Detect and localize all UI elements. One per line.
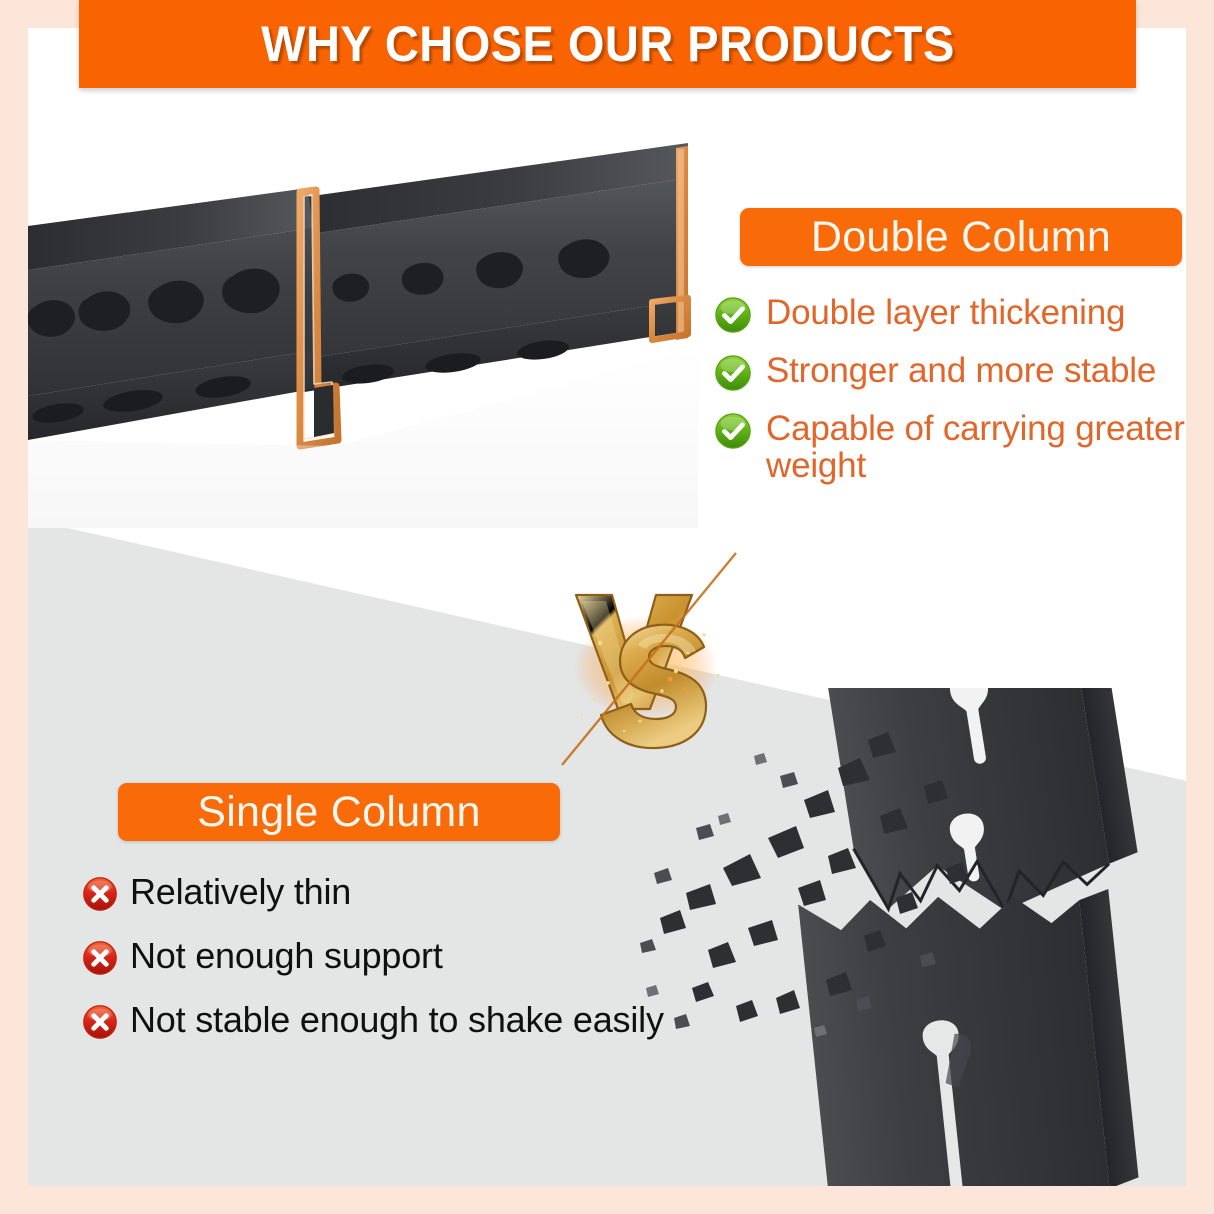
cross-circle-icon — [82, 940, 118, 976]
page-title: WHY CHOSE OUR PRODUCTS — [261, 19, 955, 69]
double-column-photo — [28, 88, 698, 528]
badge-single-column: Single Column — [118, 783, 560, 841]
cons-item-text: Not enough support — [130, 937, 443, 975]
vs-emblem-icon — [528, 543, 758, 773]
badge-double-column: Double Column — [740, 208, 1182, 266]
cross-circle-icon — [82, 1004, 118, 1040]
badge-single-column-label: Single Column — [197, 791, 481, 834]
cons-item-text: Not stable enough to shake easily — [130, 1001, 664, 1039]
list-item: Not enough support — [82, 937, 762, 976]
list-item: Double layer thickening — [714, 294, 1186, 334]
pros-item-text: Double layer thickening — [766, 294, 1125, 331]
check-circle-icon — [714, 354, 752, 392]
list-item: Relatively thin — [82, 873, 762, 912]
cons-item-text: Relatively thin — [130, 873, 351, 911]
check-circle-icon — [714, 412, 752, 450]
badge-double-column-label: Double Column — [811, 216, 1111, 259]
cross-circle-icon — [82, 876, 118, 912]
content-panel: Double Column — [28, 28, 1186, 1186]
cons-list: Relatively thin — [82, 873, 762, 1065]
list-item: Capable of carrying greater weight — [714, 410, 1186, 484]
list-item: Not stable enough to shake easily — [82, 1001, 762, 1040]
check-circle-icon — [714, 296, 752, 334]
header-banner: WHY CHOSE OUR PRODUCTS — [79, 0, 1136, 88]
pros-item-text: Capable of carrying greater weight — [766, 410, 1186, 484]
pros-item-text: Stronger and more stable — [766, 352, 1156, 389]
infographic-root: Double Column — [0, 0, 1214, 1214]
list-item: Stronger and more stable — [714, 352, 1186, 392]
pros-list: Double layer thickening — [714, 294, 1186, 502]
